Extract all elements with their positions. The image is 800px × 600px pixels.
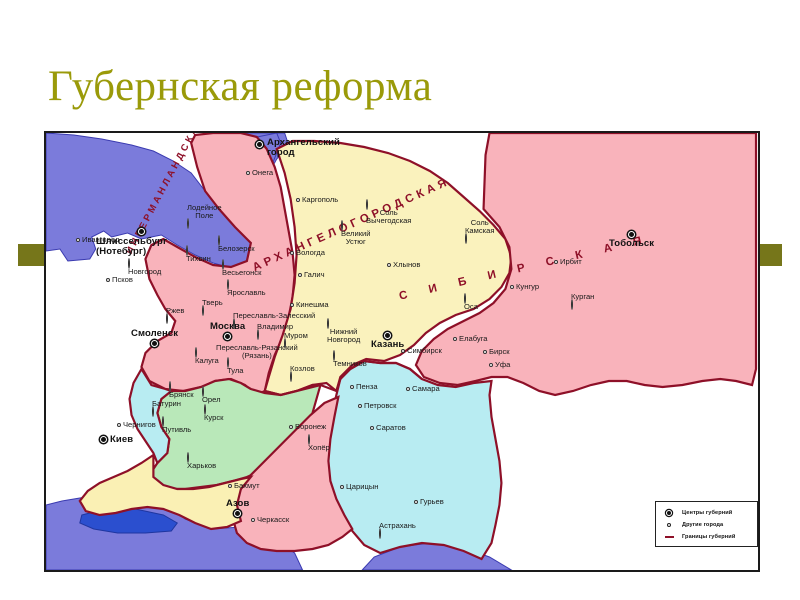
- legend-item-centers: Центры губерний: [662, 507, 751, 519]
- map-regions-svg: [46, 133, 758, 570]
- legend-border-icon: [662, 536, 676, 537]
- legend-label-centers: Центры губерний: [682, 510, 732, 516]
- legend-item-borders: Границы губерний: [662, 531, 751, 543]
- page-title: Губернская реформа: [48, 62, 748, 111]
- legend-label-borders: Границы губерний: [682, 534, 735, 540]
- legend-center-icon: [662, 510, 676, 516]
- slide-root: Губернская реформа: [0, 0, 800, 600]
- decorative-bar-left: [18, 244, 45, 266]
- legend-town-icon: [662, 523, 676, 528]
- legend-item-towns: Другие города: [662, 519, 751, 531]
- legend-label-towns: Другие города: [682, 522, 723, 528]
- map-image: ИНГЕРМАНЛАНДСКАЯ АРХАНГЕЛОГОРОДСКАЯ СИБИ…: [44, 131, 760, 572]
- map-legend: Центры губерний Другие города Границы гу…: [655, 501, 758, 547]
